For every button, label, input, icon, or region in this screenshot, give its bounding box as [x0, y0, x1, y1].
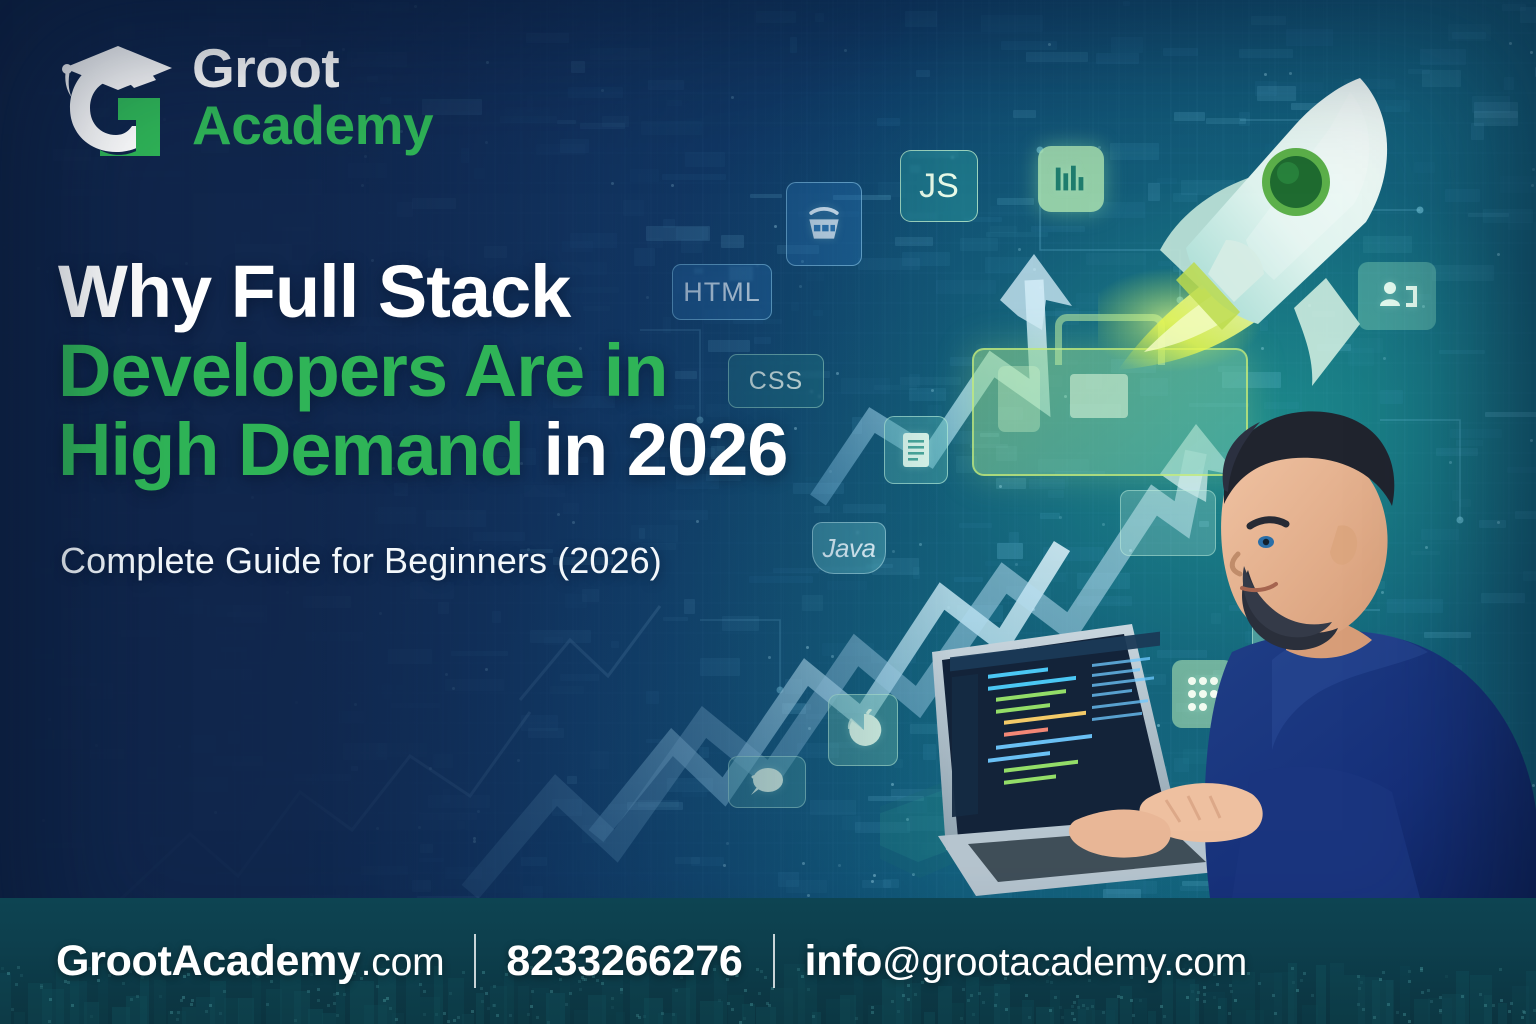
brand-logo[interactable]: Groot Academy: [56, 38, 433, 156]
contact-footer-bar: GrootAcademy .com 8233266276 info @groot…: [0, 898, 1536, 1024]
headline-line-2: Developers Are in: [58, 331, 838, 410]
banner-canvas: HTML CSS JS Java: [0, 0, 1536, 1024]
subtitle: Complete Guide for Beginners (2026): [60, 540, 662, 582]
footer-email-strong: info: [805, 937, 883, 986]
laptop-with-code-editor: [932, 624, 1236, 896]
brand-logo-text: Groot Academy: [192, 42, 433, 152]
brand-logo-line2: Academy: [192, 99, 433, 152]
graduation-cap-g-arrow-logo-icon: [56, 38, 174, 156]
footer-divider-1: [474, 934, 476, 988]
footer-phone-number: 8233266276: [506, 937, 742, 986]
footer-email[interactable]: info @grootacademy.com: [805, 937, 1248, 986]
footer-website-strong: GrootAcademy: [56, 937, 361, 986]
footer-email-light: @grootacademy.com: [882, 941, 1247, 985]
footer-divider-2: [773, 934, 775, 988]
headline-line3-green-text: High Demand: [58, 408, 524, 491]
bar-chart-list-icon[interactable]: [1038, 146, 1104, 212]
headline-line2-text: Developers Are in: [58, 329, 668, 412]
headline-line1-text: Why Full Stack: [58, 250, 570, 333]
headline-line-3: High Demand in 2026: [58, 410, 838, 489]
developer-at-laptop: [880, 330, 1536, 898]
headline-line-1: Why Full Stack: [58, 252, 838, 331]
footer-website-light: .com: [361, 941, 445, 985]
headline-line3-white-text: in 2026: [543, 408, 787, 491]
footer-website[interactable]: GrootAcademy .com: [56, 937, 444, 986]
headline-block: Why Full Stack Developers Are in High De…: [58, 252, 838, 490]
footer-phone[interactable]: 8233266276: [506, 937, 742, 986]
bar-chart-list-glyph: [1052, 160, 1090, 198]
brand-logo-line1: Groot: [192, 42, 433, 95]
